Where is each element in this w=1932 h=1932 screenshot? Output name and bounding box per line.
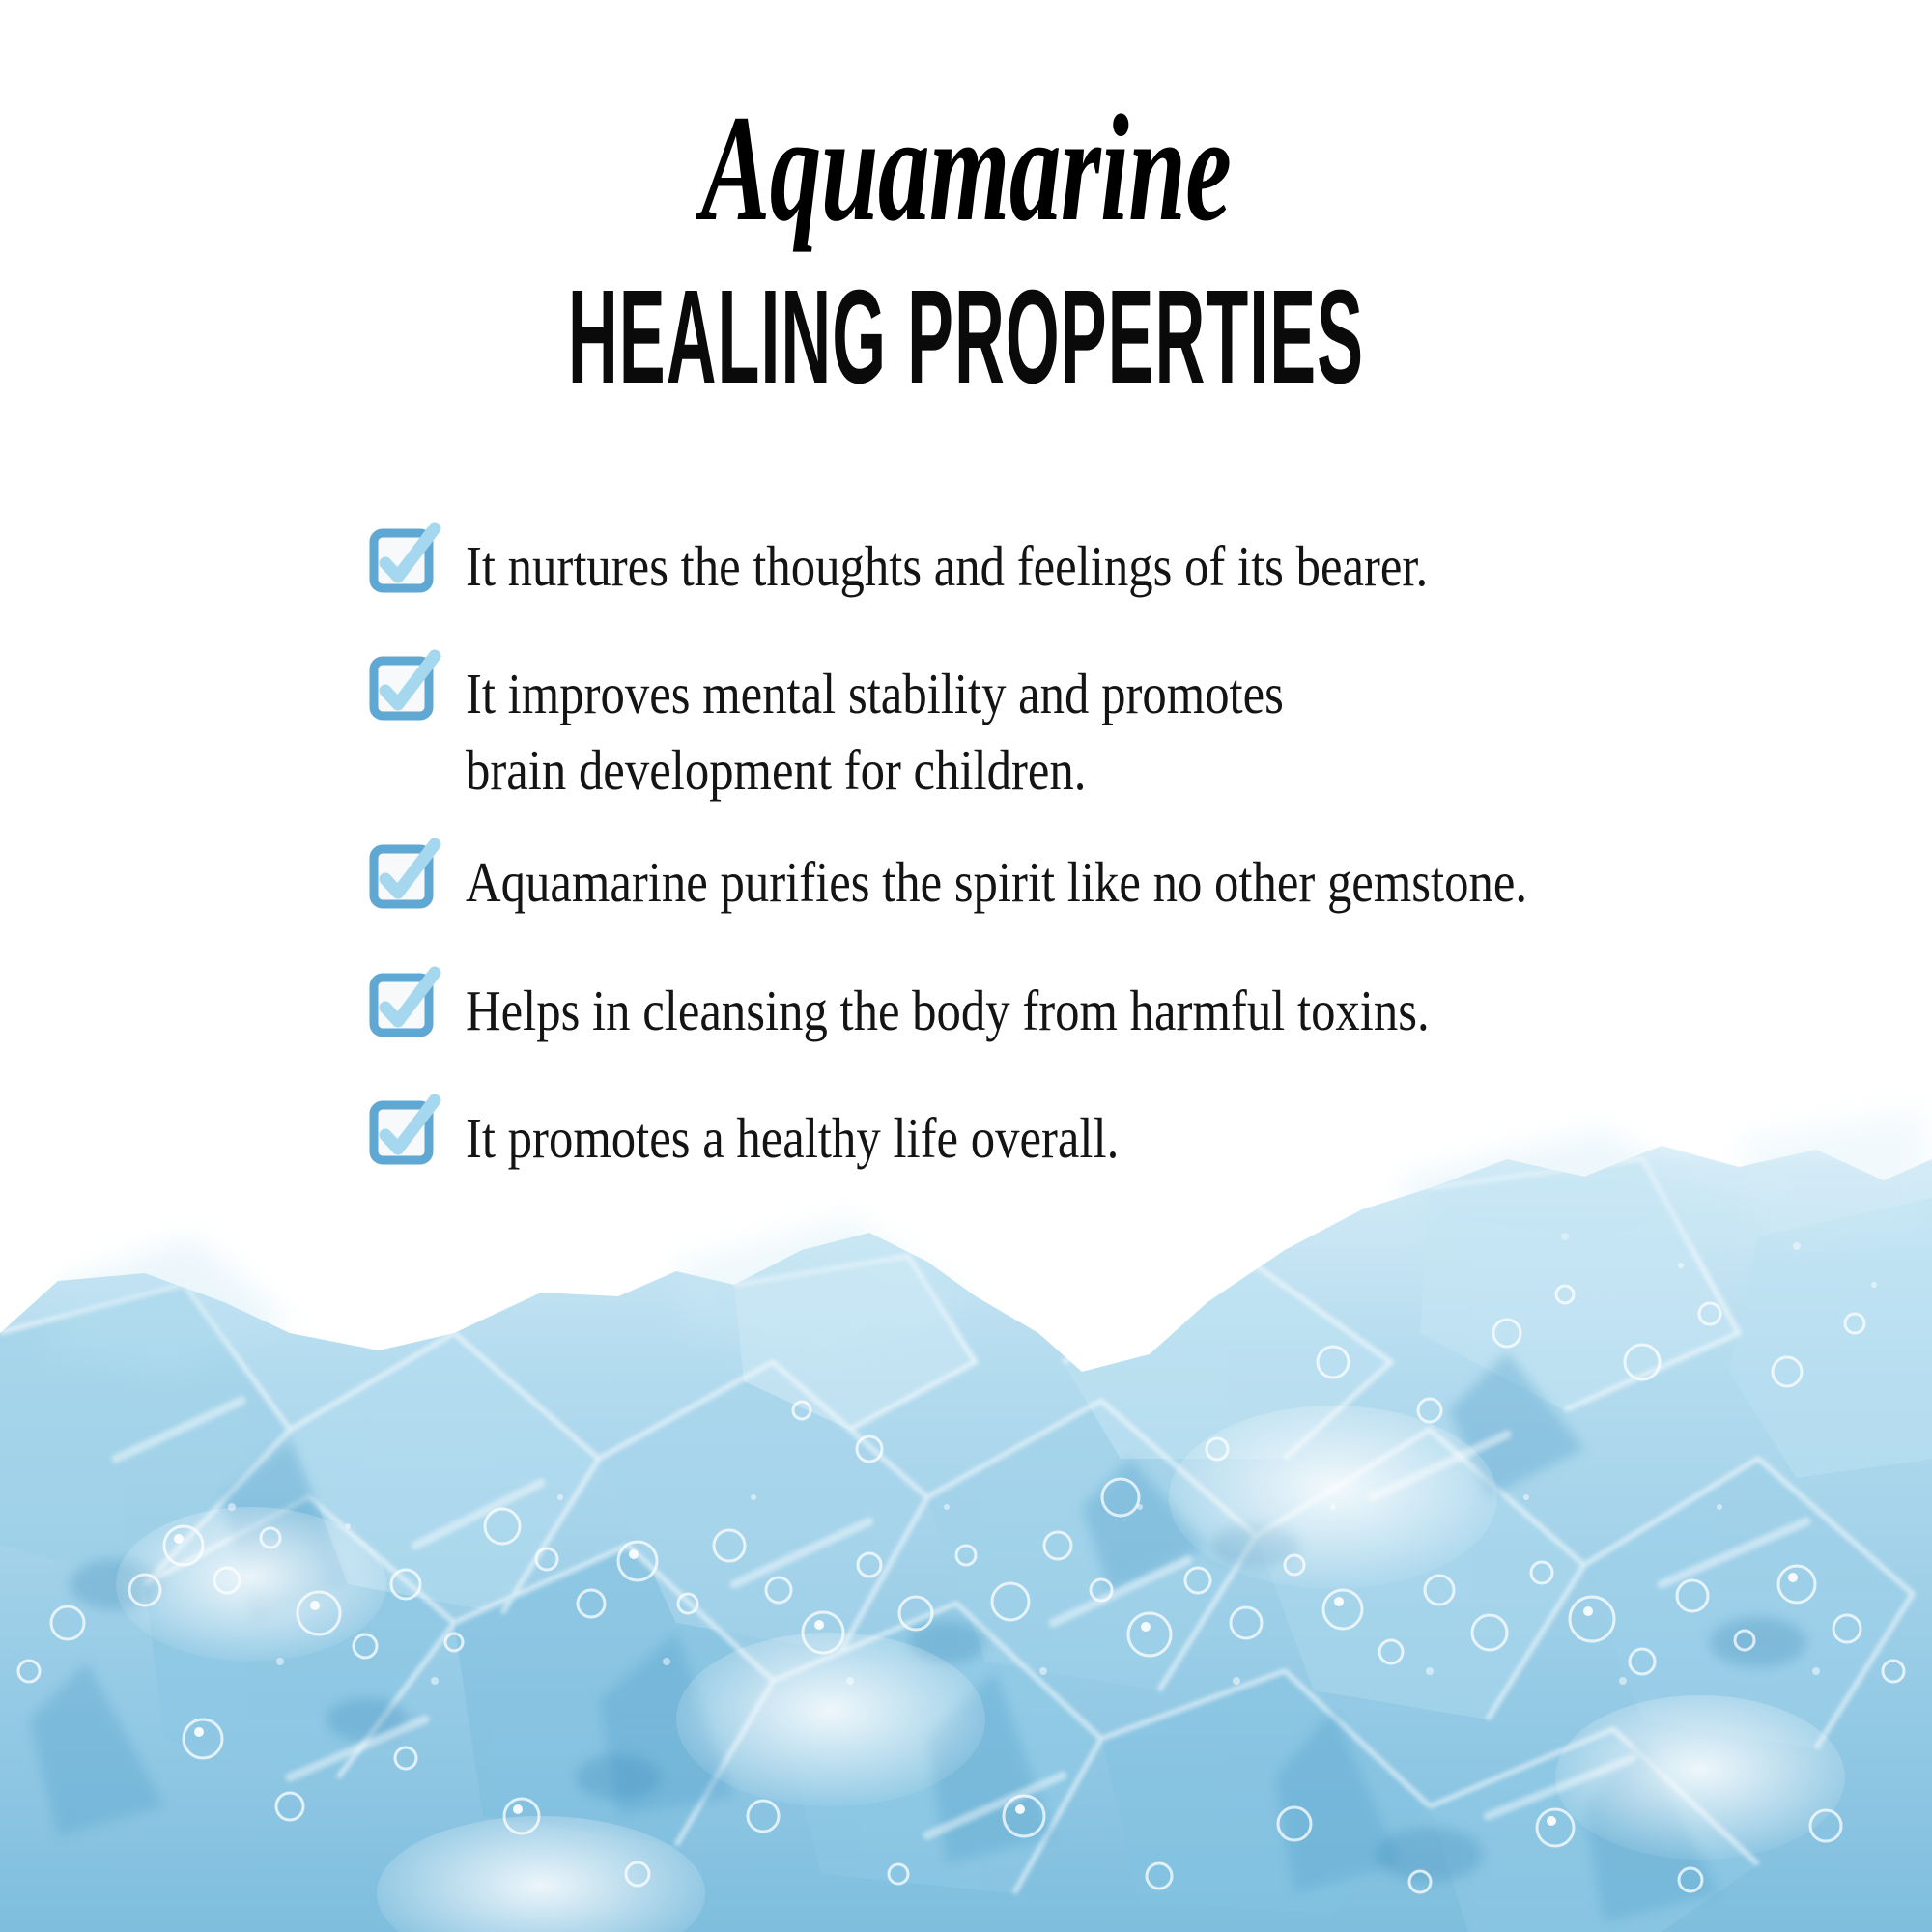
checkbox-checked-icon [369,971,439,1040]
list-item: Aquamarine purifies the spirit like no o… [369,842,1799,920]
list-item: Helps in cleansing the body from harmful… [369,971,1799,1048]
list-item: It nurtures the thoughts and feelings of… [369,526,1799,604]
page-subtitle-block: HEALING PROPERTIES [464,270,1468,404]
list-item: It improves mental stability and promote… [369,654,1799,808]
healing-properties-list: It nurtures the thoughts and feelings of… [369,526,1799,1177]
ice-cubes-photograph [0,1043,1932,1932]
list-item-label: It nurtures the thoughts and feelings of… [466,526,1612,604]
page-title-script: Aquamarine [309,93,1623,245]
checkbox-checked-icon [369,654,439,724]
list-item-label: It improves mental stability and promote… [466,654,1612,808]
list-item-label: Aquamarine purifies the spirit like no o… [466,842,1612,920]
list-item-label: It promotes a healthy life overall. [466,1098,1612,1176]
poster-canvas: Aquamarine HEALING PROPERTIES It nurture… [0,0,1932,1932]
list-item-label: Helps in cleansing the body from harmful… [466,971,1612,1048]
checkbox-checked-icon [369,526,439,596]
list-item: It promotes a healthy life overall. [369,1098,1799,1176]
checkbox-checked-icon [369,842,439,912]
poster-header: Aquamarine HEALING PROPERTIES [0,0,1932,404]
checkbox-checked-icon [369,1098,439,1168]
